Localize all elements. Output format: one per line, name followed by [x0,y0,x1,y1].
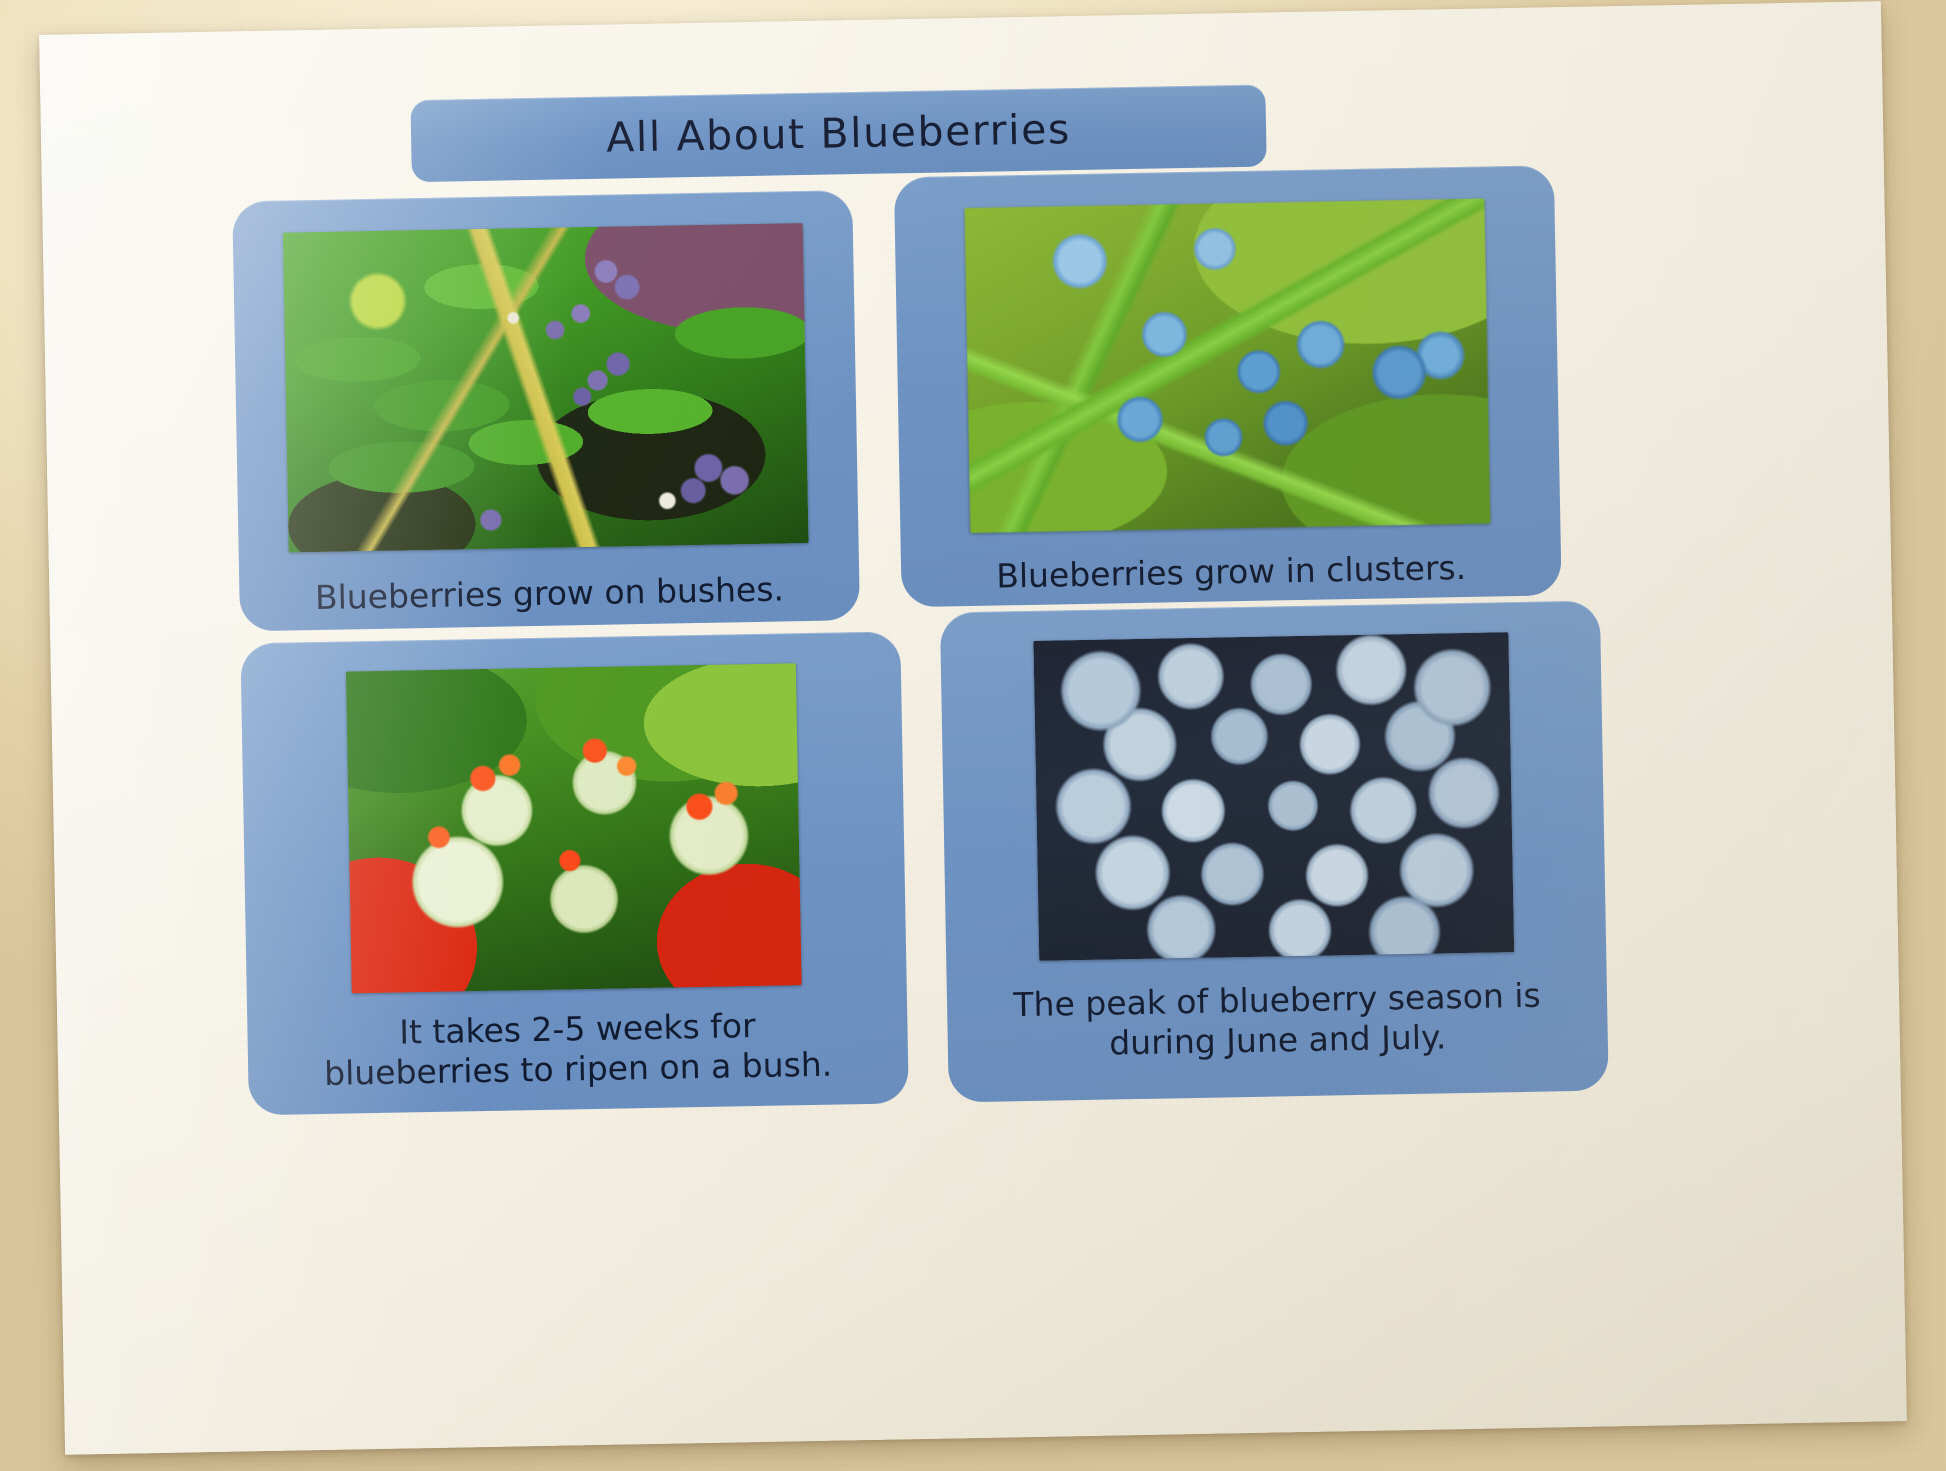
caption-ripening: It takes 2-5 weeks for blueberries to ri… [323,1005,832,1093]
fact-card-ripening: It takes 2-5 weeks for blueberries to ri… [240,631,909,1115]
fact-card-season: The peak of blueberry season is during J… [940,600,1609,1102]
fact-card-bushes: Blueberries grow on bushes. [232,190,860,631]
fact-card-clusters: Blueberries grow in clusters. [894,165,1562,607]
caption-season: The peak of blueberry season is during J… [1013,976,1542,1065]
caption-bushes: Blueberries grow on bushes. [315,569,785,617]
caption-clusters: Blueberries grow in clusters. [996,548,1467,596]
ripe-blueberries-heap-photo [1033,632,1514,961]
unripe-blueberries-photo [346,663,802,993]
printed-poster-sheet: All About Blueberries Blueberries grow o… [39,1,1907,1455]
poster-title-banner: All About Blueberries [410,85,1266,183]
blueberry-bush-photo [283,223,809,552]
poster-content: All About Blueberries Blueberries grow o… [230,58,1654,1383]
page-title: All About Blueberries [606,105,1071,162]
photo-scene: All About Blueberries Blueberries grow o… [0,0,1946,1471]
blueberry-cluster-photo [964,199,1490,533]
